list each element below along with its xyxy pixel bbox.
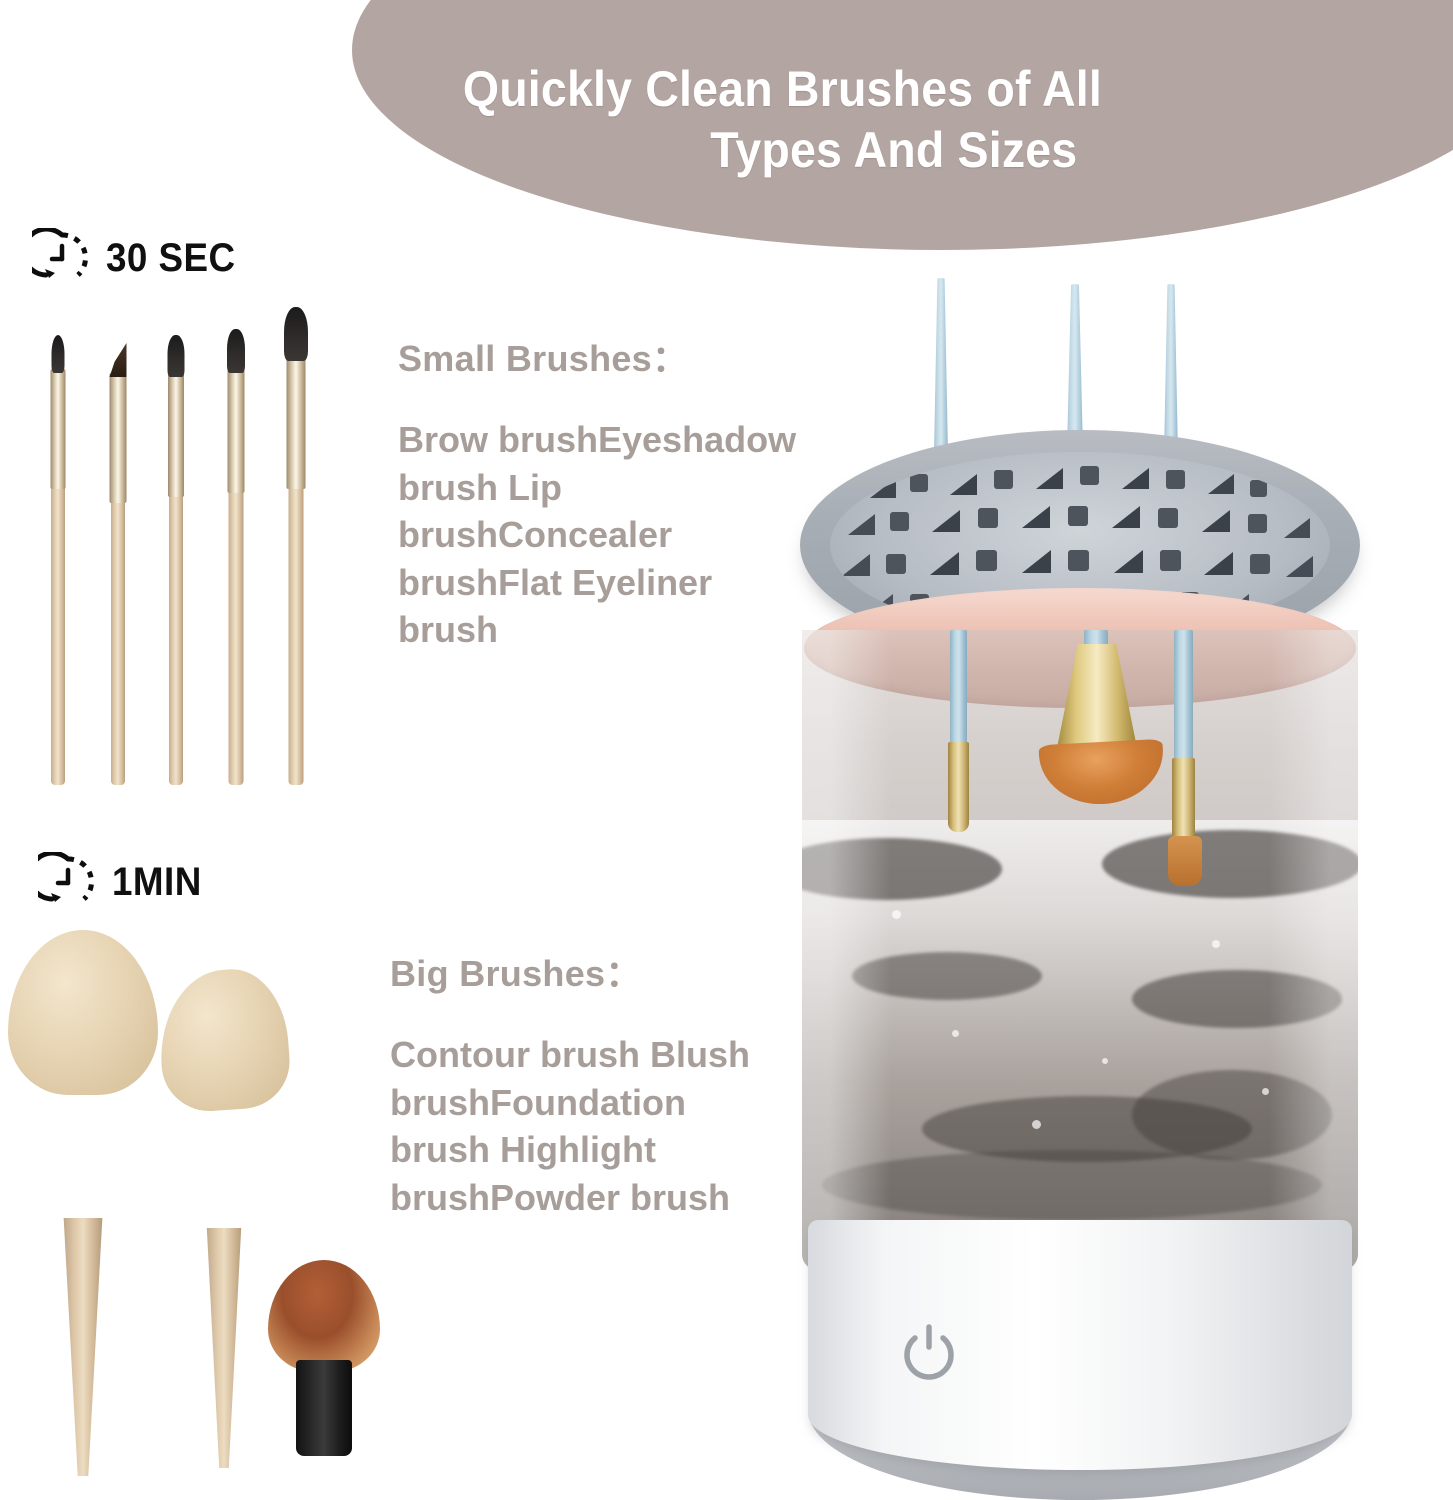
brush-handle-in-tank-1 (950, 630, 967, 745)
brush-handle-in-tank-3 (1174, 630, 1193, 762)
small-brushes-heading: Small Brushes： (398, 330, 798, 382)
brush-ferrule-in-tank-2 (1057, 644, 1137, 748)
power-button[interactable] (898, 1318, 960, 1380)
water-tank (802, 630, 1358, 1270)
water (802, 820, 1358, 1270)
timer-label-1min: 1MIN (112, 860, 202, 905)
big-brushes-text-block: Big Brushes： Contour brush Blush brushFo… (390, 945, 790, 1221)
small-brush-5 (276, 293, 316, 785)
big-brush-kabuki (268, 1260, 380, 1470)
kabuki-bristles (268, 1260, 380, 1372)
small-brush-1 (40, 333, 76, 785)
brush-handle-in-tank-2 (1084, 630, 1108, 648)
brush-bristles-in-tank-3 (1168, 836, 1202, 886)
kabuki-handle (296, 1360, 352, 1456)
big-brush-powder (8, 930, 158, 1470)
device-base (808, 1220, 1352, 1470)
big-brush-set (0, 930, 380, 1500)
clock-icon (32, 228, 92, 288)
small-brushes-text-block: Small Brushes： Brow brushEyeshadow brush… (398, 330, 798, 654)
small-brush-3 (158, 323, 194, 785)
brush-bristles-in-tank-2 (1038, 739, 1165, 807)
brush-ferrule-in-tank-3 (1172, 758, 1195, 844)
clock-icon (38, 852, 98, 912)
product-image (780, 270, 1380, 1500)
small-brush-4 (218, 315, 254, 785)
timer-badge-30sec: 30 SEC (32, 228, 247, 288)
small-brush-2 (100, 333, 136, 785)
small-brush-set (28, 305, 308, 785)
big-brushes-heading: Big Brushes： (390, 945, 790, 997)
brush-ferrule-in-tank-1 (948, 742, 969, 832)
header-banner (352, 0, 1453, 250)
big-brushes-list: Contour brush Blush brushFoundation brus… (390, 1031, 790, 1221)
timer-label-30sec: 30 SEC (106, 236, 236, 281)
small-brushes-list: Brow brushEyeshadow brush Lip brushConce… (398, 416, 798, 654)
timer-badge-1min: 1MIN (38, 852, 210, 912)
